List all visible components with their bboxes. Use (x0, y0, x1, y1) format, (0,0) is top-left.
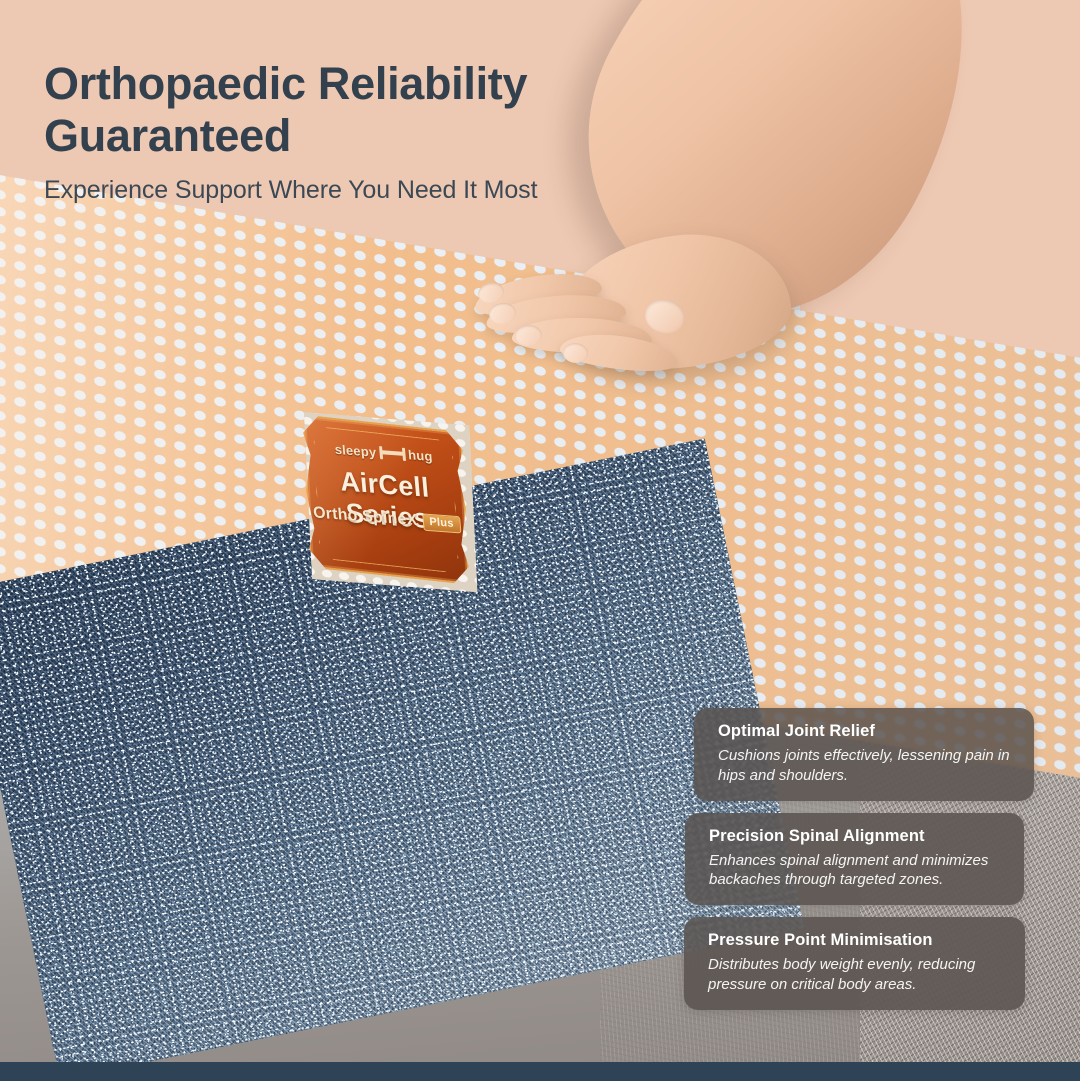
bed-icon (379, 446, 406, 461)
page-title-line-1: Orthopaedic Reliability (44, 58, 684, 110)
brand-name-prefix: sleepy (334, 442, 377, 460)
feature-callout-precision-spinal-alignment: Precision Spinal Alignment Enhances spin… (685, 813, 1024, 906)
page-title: Orthopaedic Reliability Guaranteed (44, 58, 684, 162)
feature-callout-optimal-joint-relief: Optimal Joint Relief Cushions joints eff… (694, 708, 1034, 801)
page-subtitle: Experience Support Where You Need It Mos… (44, 176, 684, 205)
feature-title: Precision Spinal Alignment (709, 827, 1007, 846)
feature-callout-pressure-point-minimisation: Pressure Point Minimisation Distributes … (684, 917, 1025, 1010)
product-hero-image: sleepy hug AirCell Series Ortho SpineX P… (0, 0, 1080, 1081)
feature-title: Pressure Point Minimisation (708, 931, 1008, 950)
left-frame-bar (0, 1062, 4, 1081)
brand-name-suffix: hug (407, 447, 433, 464)
bottom-frame-bar (0, 1062, 1080, 1081)
feature-description: Enhances spinal alignment and minimizes … (709, 851, 1007, 891)
feature-description: Distributes body weight evenly, reducing… (708, 955, 1008, 995)
feature-title: Optimal Joint Relief (718, 722, 1017, 741)
product-badge: sleepy hug AirCell Series Ortho SpineX P… (302, 414, 470, 585)
badge-tier-chip: Plus (422, 513, 462, 533)
hero-heading-block: Orthopaedic Reliability Guaranteed Exper… (44, 58, 684, 205)
feature-description: Cushions joints effectively, lessening p… (718, 746, 1017, 786)
page-title-line-2: Guaranteed (44, 110, 684, 162)
feature-callout-list: Optimal Joint Relief Cushions joints eff… (694, 708, 1034, 1022)
product-label-patch: sleepy hug AirCell Series Ortho SpineX P… (298, 397, 477, 603)
